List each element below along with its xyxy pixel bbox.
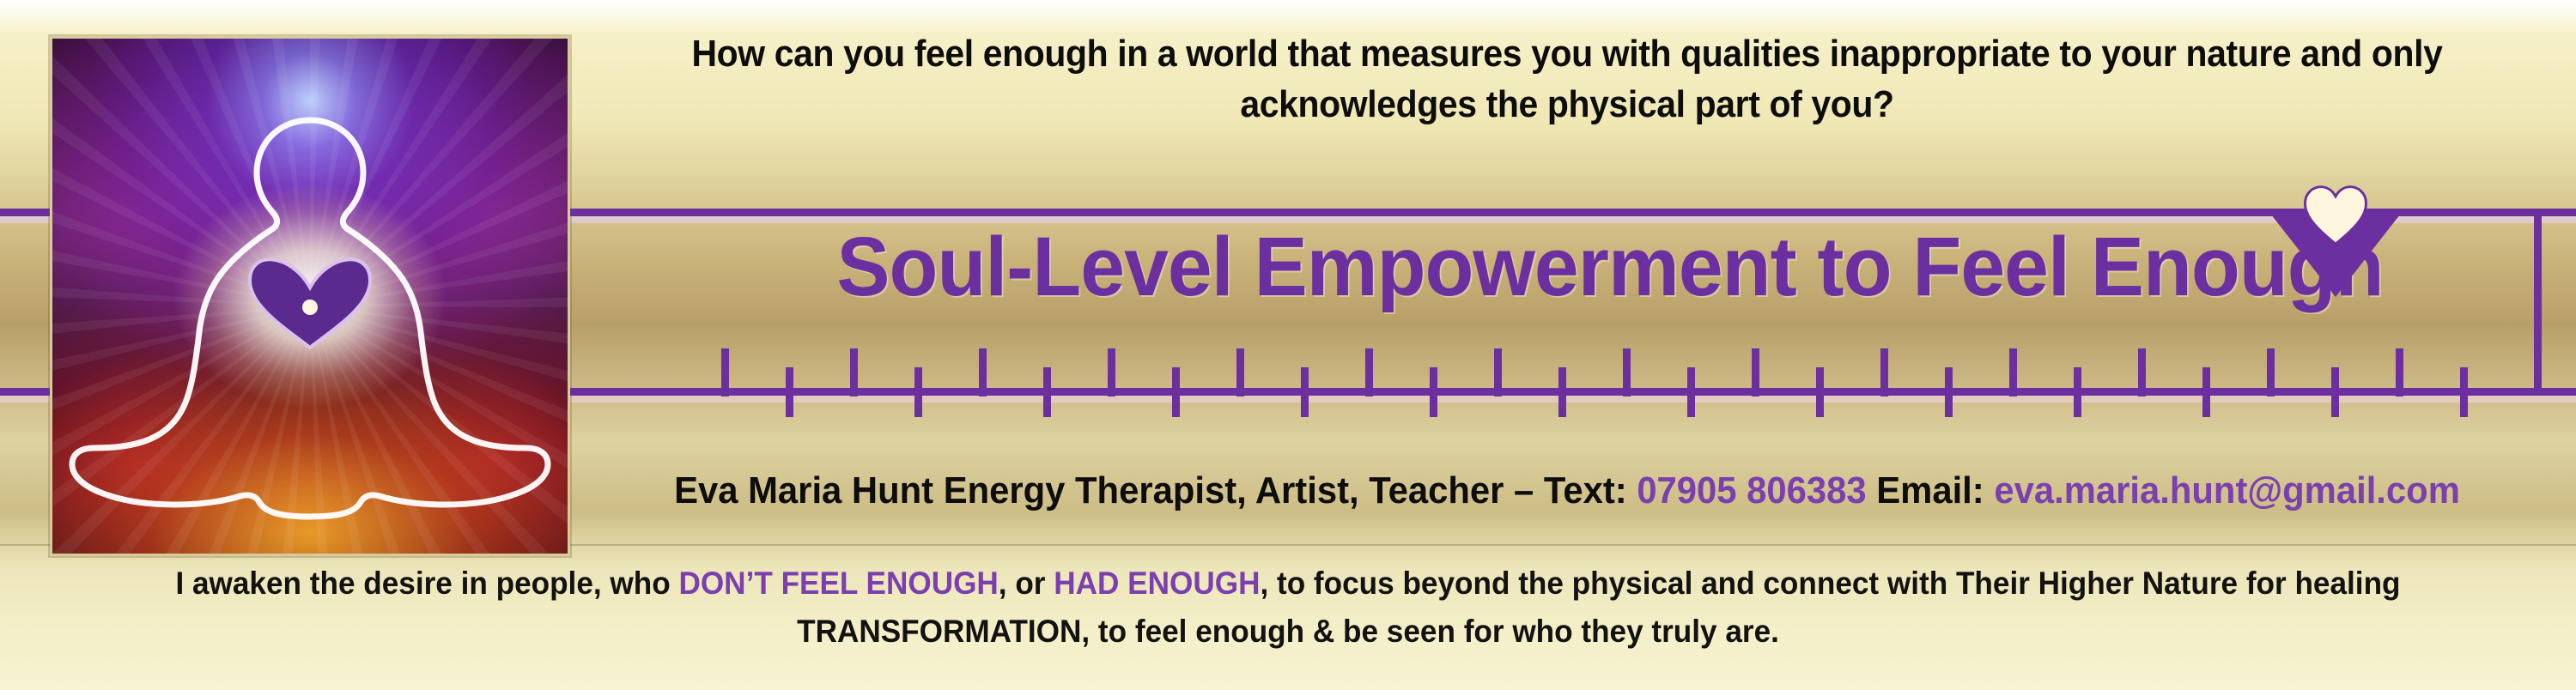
ruler-tick: [786, 367, 793, 417]
ruler-tick: [2267, 348, 2275, 396]
tagline-line-1: I awaken the desire in people, who DON’T…: [97, 560, 2479, 608]
practitioner-name-and-roles: Eva Maria Hunt Energy Therapist, Artist,…: [674, 469, 1627, 511]
ruler-tick: [1430, 367, 1437, 417]
ruler-tick: [1108, 348, 1115, 396]
promotional-banner: How can you feel enough in a world that …: [0, 0, 2576, 690]
ruler-tick: [1623, 348, 1631, 396]
ruler-tick: [979, 348, 987, 396]
ruler-tick: [2138, 348, 2146, 396]
heart-arrow-marker: [2271, 185, 2400, 297]
tagline-accent-had-enough: HAD ENOUGH: [1054, 566, 1260, 601]
tagline-text-c: , to focus beyond the physical and conne…: [1260, 566, 2400, 601]
headline-line-1: How can you feel enough in a world that …: [637, 29, 2498, 80]
ruler-tick: [2331, 367, 2339, 417]
email-address[interactable]: eva.maria.hunt@gmail.com: [1994, 469, 2460, 511]
ruler-scale: [721, 348, 2524, 430]
ruler-tick: [1752, 348, 1759, 396]
headline-question: How can you feel enough in a world that …: [637, 29, 2498, 130]
ruler-tick: [1494, 348, 1502, 396]
ruler-tick: [1236, 348, 1244, 396]
meditating-figure-artwork: [50, 36, 570, 556]
ruler-tick: [1945, 367, 1953, 417]
ruler-tick: [1687, 367, 1695, 417]
ruler-tick: [1172, 367, 1180, 417]
frame-rule-right: [2534, 209, 2542, 396]
page-title: Soul-Level Empowerment to Feel Enough: [724, 225, 2496, 308]
contact-line: Eva Maria Hunt Energy Therapist, Artist,…: [617, 470, 2518, 511]
tagline-text-a: I awaken the desire in people, who: [175, 566, 678, 601]
ruler-tick: [1301, 367, 1309, 417]
tagline-text-b: , or: [999, 566, 1054, 601]
ruler-tick: [1816, 367, 1824, 417]
ruler-tick: [1558, 367, 1566, 417]
ruler-tick: [2009, 348, 2017, 396]
ruler-tick: [914, 367, 922, 417]
mission-tagline: I awaken the desire in people, who DON’T…: [97, 560, 2479, 656]
ruler-tick: [1043, 367, 1051, 417]
headline-line-2: acknowledges the physical part of you?: [637, 80, 2498, 130]
lotus-figure-silhouette-icon: [52, 39, 568, 554]
heart-chakra-icon: [250, 259, 370, 348]
ruler-tick: [1880, 348, 1888, 396]
tagline-accent-dont-feel-enough: DON’T FEEL ENOUGH: [678, 566, 998, 601]
ruler-tick: [2074, 367, 2081, 417]
ruler-tick: [721, 348, 729, 396]
phone-number[interactable]: 07905 806383: [1637, 469, 1866, 511]
email-label: Email:: [1876, 469, 1984, 511]
ruler-tick: [850, 348, 858, 396]
ruler-tick: [2202, 367, 2210, 417]
ruler-tick: [2460, 367, 2468, 417]
heart-icon: [2304, 185, 2367, 245]
tagline-line-2: TRANSFORMATION, to feel enough & be seen…: [97, 608, 2479, 656]
ruler-tick: [2396, 348, 2403, 396]
ruler-tick: [1365, 348, 1373, 396]
